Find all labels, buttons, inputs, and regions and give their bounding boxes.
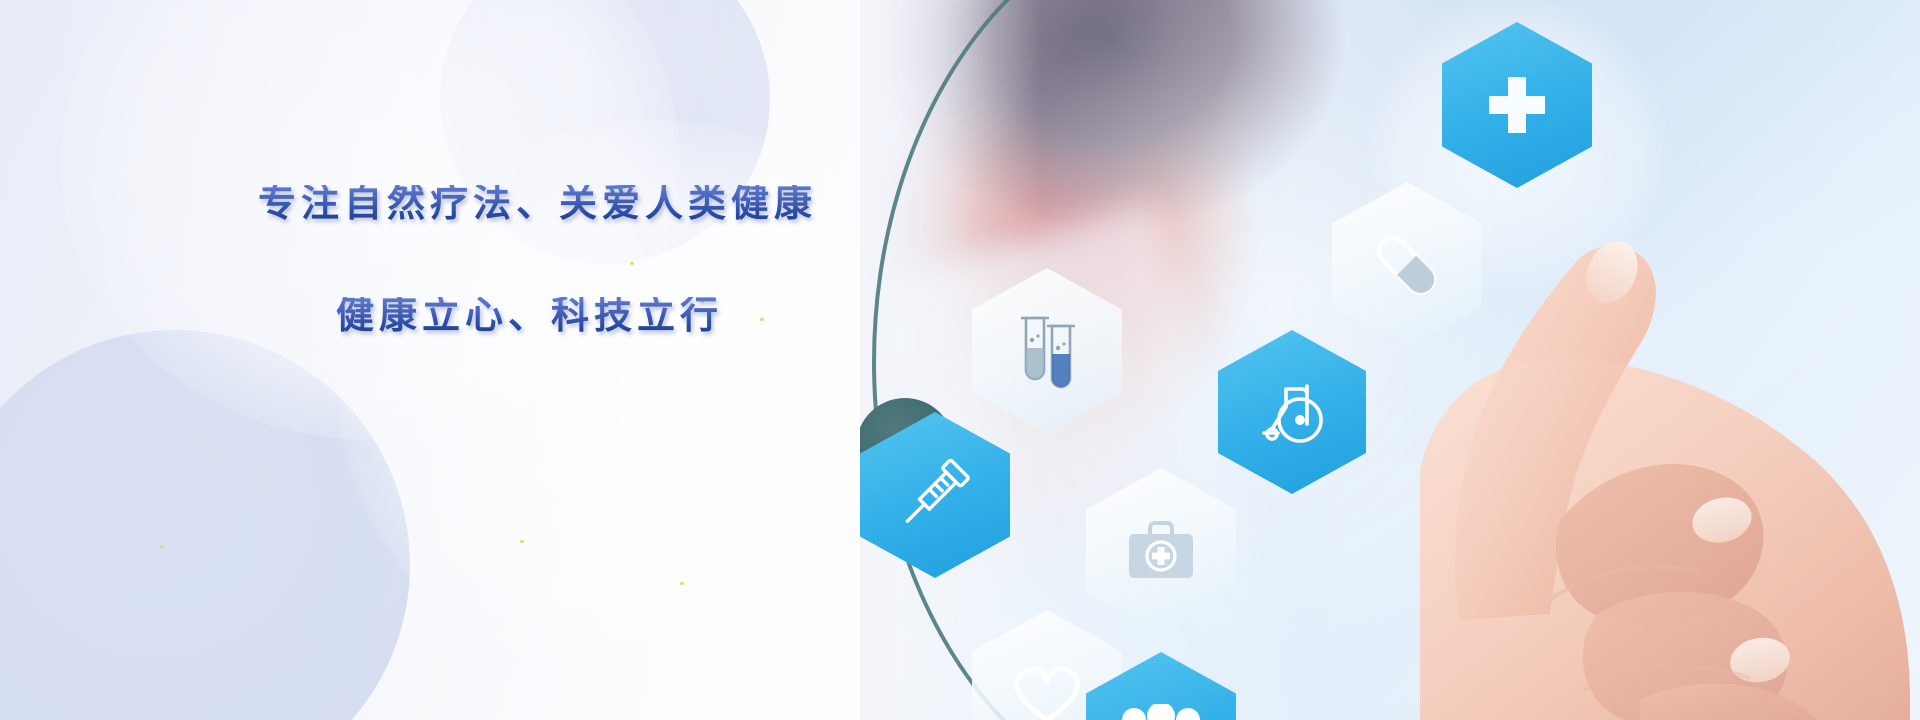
headline-line-2: 健康立心、科技立行 bbox=[336, 297, 878, 335]
medical-photo-panel bbox=[860, 0, 1920, 720]
sparkle-icon bbox=[520, 540, 524, 543]
hand-pointing bbox=[860, 0, 1920, 720]
promo-banner: 专注自然疗法、关爱人类健康 健康立心、科技立行 bbox=[0, 0, 1920, 720]
headline-group: 专注自然疗法、关爱人类健康 健康立心、科技立行 bbox=[258, 185, 878, 335]
hand-pointing-icon bbox=[860, 0, 1920, 720]
sparkle-icon bbox=[160, 545, 164, 548]
sparkle-icon bbox=[680, 582, 684, 585]
left-veil-overlay bbox=[0, 0, 900, 720]
headline-line-1: 专注自然疗法、关爱人类健康 bbox=[258, 185, 878, 223]
